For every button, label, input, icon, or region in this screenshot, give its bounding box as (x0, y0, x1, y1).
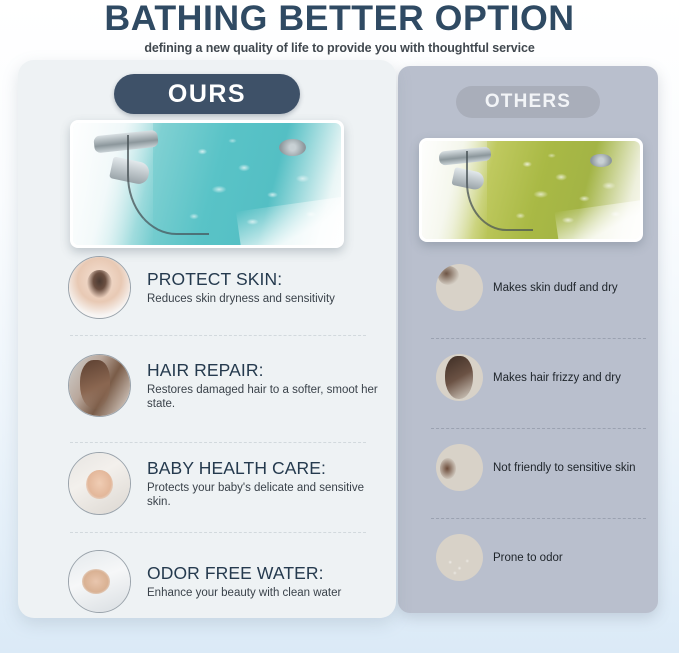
drawback-text: Not friendly to sensitive skin (493, 461, 636, 475)
drawback-thumbnail (436, 444, 483, 491)
list-item: PROTECT SKIN: Reduces skin dryness and s… (68, 256, 378, 319)
feature-heading: BABY HEALTH CARE: (147, 458, 378, 478)
feature-description: Enhance your beauty with clean water (147, 586, 341, 600)
feature-thumbnail (68, 550, 131, 613)
list-item: Not friendly to sensitive skin (436, 444, 658, 491)
list-item: HAIR REPAIR: Restores damaged hair to a … (68, 354, 378, 417)
drain-icon (590, 154, 612, 168)
clean-bathtub-illustration (73, 123, 341, 245)
drawback-text: Makes hair frizzy and dry (493, 371, 621, 385)
feature-description: Reduces skin dryness and sensitivity (147, 292, 335, 306)
ours-badge: OURS (114, 74, 300, 114)
drawback-text: Prone to odor (493, 551, 563, 565)
list-item: ODOR FREE WATER: Enhance your beauty wit… (68, 550, 378, 613)
feature-description: Protects your baby's delicate and sensit… (147, 481, 378, 509)
feature-description: Restores damaged hair to a softer, smoot… (147, 383, 378, 411)
woman-in-bubble-bath-photo (69, 551, 130, 612)
feature-heading: ODOR FREE WATER: (147, 563, 341, 583)
divider (70, 335, 366, 336)
page-title: BATHING BETTER OPTION (0, 0, 679, 38)
drawback-text: Makes skin dudf and dry (493, 281, 618, 295)
drawback-thumbnail (436, 534, 483, 581)
list-item: BABY HEALTH CARE: Protects your baby's d… (68, 452, 378, 515)
others-hero-image (419, 138, 643, 242)
divider (431, 428, 646, 429)
feature-thumbnail (68, 256, 131, 319)
drawback-thumbnail (436, 354, 483, 401)
list-item: Makes skin dudf and dry (436, 264, 658, 311)
drain-icon (279, 139, 306, 156)
drawback-thumbnail (436, 264, 483, 311)
divider (70, 442, 366, 443)
dirty-bathtub-illustration (422, 141, 640, 239)
others-badge: OTHERS (456, 86, 600, 118)
feature-heading: PROTECT SKIN: (147, 269, 335, 289)
divider (431, 518, 646, 519)
smiling-woman-touching-face-photo (69, 257, 130, 318)
feature-heading: HAIR REPAIR: (147, 360, 378, 380)
woman-brushing-hair-photo (69, 355, 130, 416)
feature-thumbnail (68, 452, 131, 515)
baby-with-towel-photo (69, 453, 130, 514)
page-header: BATHING BETTER OPTION defining a new qua… (0, 0, 679, 55)
ours-panel: OURS PROTECT SKIN: Reduces skin dryness … (18, 60, 396, 618)
others-panel: OTHERS Makes skin dudf and dry Makes hai… (398, 66, 658, 613)
divider (431, 338, 646, 339)
divider (70, 532, 366, 533)
list-item: Prone to odor (436, 534, 658, 581)
list-item: Makes hair frizzy and dry (436, 354, 658, 401)
page-tagline: defining a new quality of life to provid… (0, 41, 679, 55)
feature-thumbnail (68, 354, 131, 417)
ours-hero-image (70, 120, 344, 248)
